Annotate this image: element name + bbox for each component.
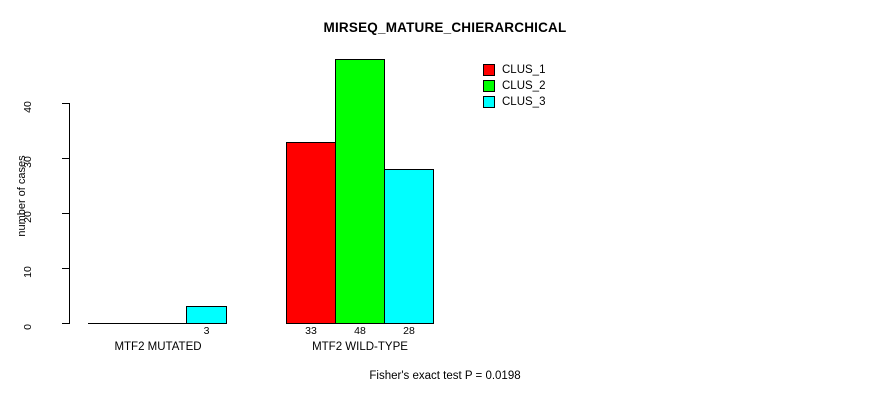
y-tick-20 bbox=[62, 213, 69, 214]
legend-swatch-clus-2-icon bbox=[483, 80, 495, 92]
y-tick-label-40: 40 bbox=[0, 97, 56, 109]
bar-value-mtf2-wild-type-clus-1: 33 bbox=[286, 325, 336, 337]
bar-value-mtf2-wild-type-clus-3: 28 bbox=[384, 325, 434, 337]
y-tick-30 bbox=[62, 158, 69, 159]
fisher-test-annotation: Fisher's exact test P = 0.0198 bbox=[0, 370, 890, 382]
group-label-mtf2-mutated: MTF2 MUTATED bbox=[78, 341, 238, 353]
y-tick-label-20: 20 bbox=[0, 207, 56, 219]
legend-label-clus-2: CLUS_2 bbox=[502, 80, 545, 92]
y-axis-title: number of cases bbox=[16, 136, 28, 256]
y-tick-label-30: 30 bbox=[0, 152, 56, 164]
y-tick-40 bbox=[62, 103, 69, 104]
bar-mtf2-wild-type-clus-3[interactable] bbox=[384, 169, 434, 324]
bar-mtf2-mutated-clus-3[interactable] bbox=[186, 306, 227, 324]
legend-swatch-clus-3-icon bbox=[483, 96, 495, 108]
y-axis-line bbox=[69, 103, 70, 324]
bar-value-mtf2-wild-type-clus-2: 48 bbox=[335, 325, 385, 337]
legend-item-clus-1[interactable]: CLUS_1 bbox=[483, 62, 545, 77]
bar-chart-figure: MIRSEQ_MATURE_CHIERARCHICAL 40 30 20 10 … bbox=[0, 0, 890, 400]
group-label-mtf2-wild-type: MTF2 WILD-TYPE bbox=[280, 341, 440, 353]
bar-value-mtf2-mutated-clus-3: 3 bbox=[186, 325, 227, 337]
y-tick-label-10: 10 bbox=[0, 262, 56, 274]
plot-area: 40 30 20 10 0 number of cases 0 3 MTF2 M… bbox=[0, 0, 890, 400]
y-tick-0 bbox=[62, 323, 69, 324]
legend-label-clus-1: CLUS_1 bbox=[502, 64, 545, 76]
legend-swatch-clus-1-icon bbox=[483, 64, 495, 76]
y-tick-label-0: 0 bbox=[0, 317, 56, 329]
legend: CLUS_1 CLUS_2 CLUS_3 bbox=[483, 62, 545, 110]
legend-item-clus-3[interactable]: CLUS_3 bbox=[483, 94, 545, 109]
y-tick-10 bbox=[62, 268, 69, 269]
group-1-baseline bbox=[88, 323, 186, 324]
bar-mtf2-wild-type-clus-2[interactable] bbox=[335, 59, 385, 324]
bar-mtf2-wild-type-clus-1[interactable] bbox=[286, 142, 336, 324]
legend-label-clus-3: CLUS_3 bbox=[502, 96, 545, 108]
legend-item-clus-2[interactable]: CLUS_2 bbox=[483, 78, 545, 93]
